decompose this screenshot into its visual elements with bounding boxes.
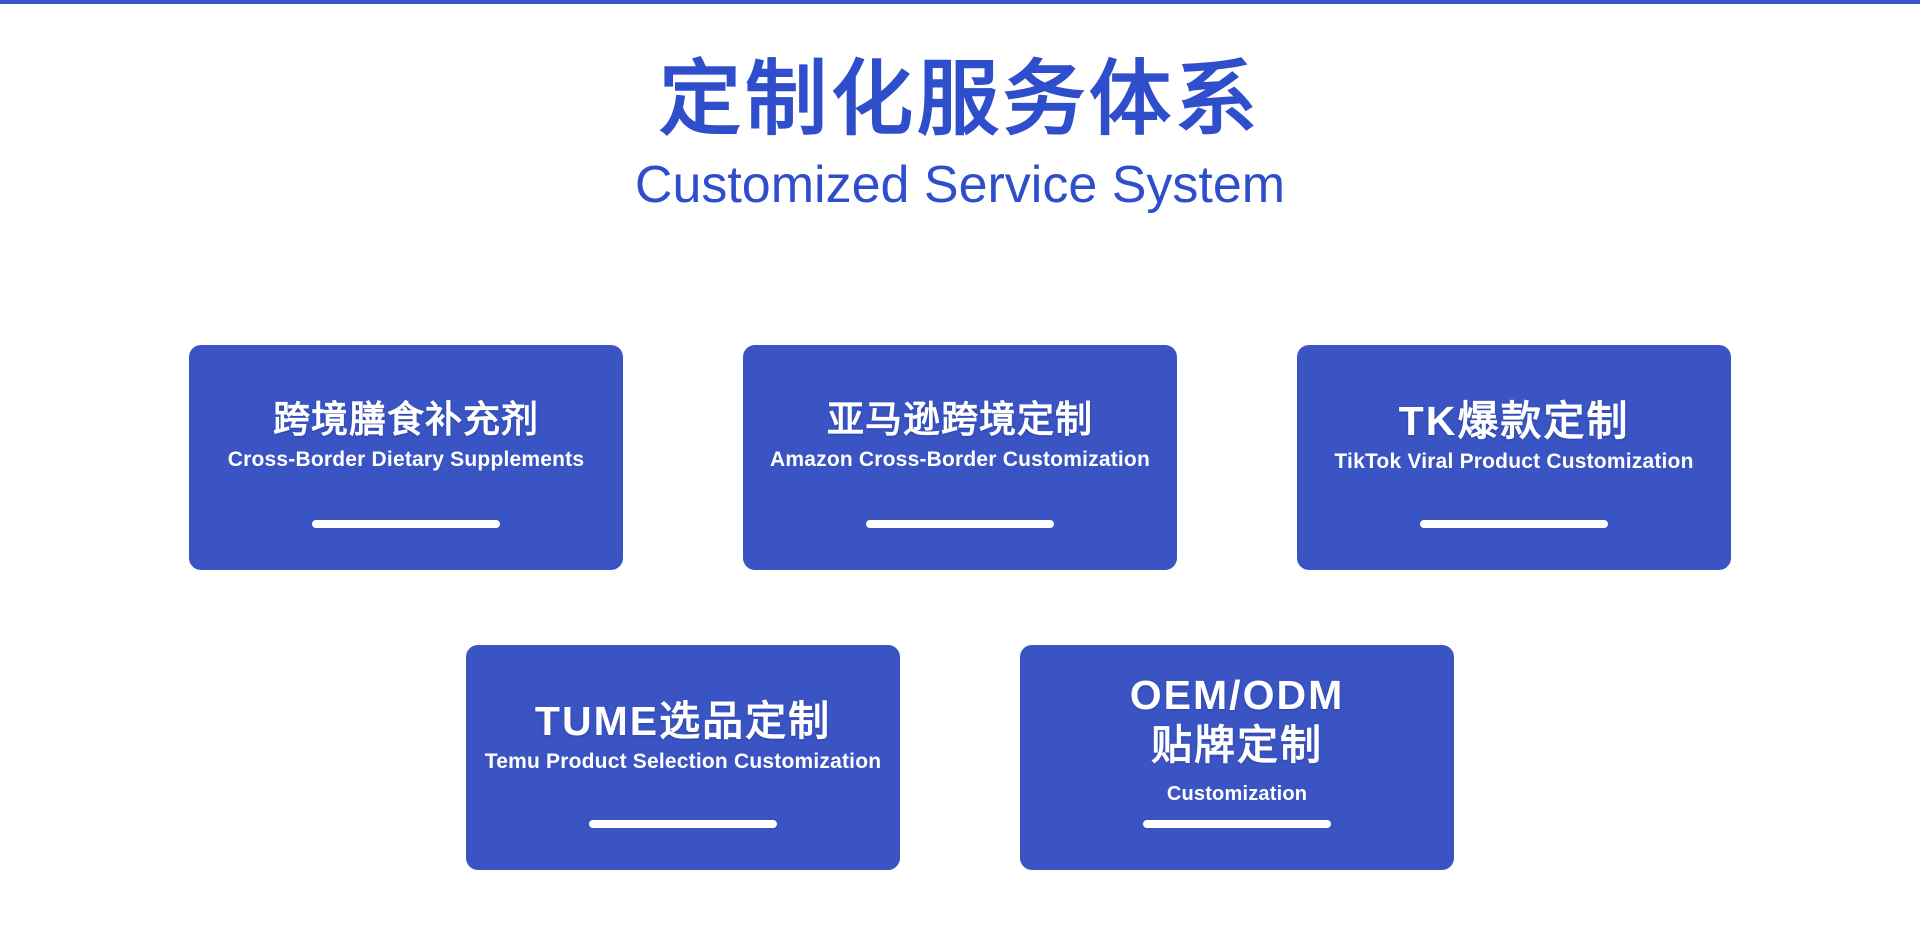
service-card-tiktok-viral[interactable]: TK爆款定制 TikTok Viral Product Customizatio… bbox=[1297, 345, 1731, 570]
card-subtitle-en: Cross-Border Dietary Supplements bbox=[228, 447, 585, 473]
card-subtitle-brand: TikTok bbox=[1334, 450, 1401, 473]
card-content: TK爆款定制 TikTok Viral Product Customizatio… bbox=[1297, 345, 1731, 475]
page-heading: 定制化服务体系 Customized Service System bbox=[0, 52, 1920, 216]
card-title-cn: 跨境膳食补充剂 bbox=[273, 397, 539, 443]
card-divider bbox=[1143, 820, 1331, 828]
service-card-row-1: 跨境膳食补充剂 Cross-Border Dietary Supplements… bbox=[0, 345, 1920, 570]
card-content: TUME选品定制 Temu Product Selection Customiz… bbox=[466, 645, 900, 775]
card-subtitle-en: Temu Product Selection Customization bbox=[485, 749, 882, 775]
card-divider bbox=[1420, 520, 1608, 528]
banner-page: 定制化服务体系 Customized Service System 跨境膳食补充… bbox=[0, 0, 1920, 939]
card-subtitle-en: TikTok Viral Product Customization bbox=[1334, 449, 1693, 475]
page-title-en: Customized Service System bbox=[0, 154, 1920, 216]
service-card-oem-odm[interactable]: OEM/ODM 贴牌定制 Customization bbox=[1020, 645, 1454, 870]
card-title-cn: 亚马逊跨境定制 bbox=[827, 397, 1093, 443]
card-title-line2: 贴牌定制 bbox=[1151, 721, 1323, 769]
card-subtitle-rest: Viral Product Customization bbox=[1407, 450, 1693, 473]
card-content: OEM/ODM 贴牌定制 Customization bbox=[1020, 645, 1454, 807]
top-accent-rule bbox=[0, 0, 1920, 4]
card-subtitle-rest: Customization bbox=[1167, 783, 1307, 805]
card-subtitle-rest: Cross-Border Dietary Supplements bbox=[228, 448, 585, 471]
service-card-cross-border-supplements[interactable]: 跨境膳食补充剂 Cross-Border Dietary Supplements bbox=[189, 345, 623, 570]
card-subtitle-brand: Temu bbox=[485, 750, 540, 773]
card-subtitle-brand: Amazon bbox=[770, 448, 853, 471]
service-card-grid: 跨境膳食补充剂 Cross-Border Dietary Supplements… bbox=[0, 345, 1920, 870]
card-divider bbox=[866, 520, 1054, 528]
card-subtitle-rest: Product Selection Customization bbox=[546, 750, 881, 773]
service-card-amazon-cross-border[interactable]: 亚马逊跨境定制 Amazon Cross-Border Customizatio… bbox=[743, 345, 1177, 570]
card-subtitle-rest: Cross-Border Customization bbox=[859, 448, 1150, 471]
card-divider bbox=[312, 520, 500, 528]
service-card-row-2: TUME选品定制 Temu Product Selection Customiz… bbox=[0, 645, 1920, 870]
service-card-temu-product-selection[interactable]: TUME选品定制 Temu Product Selection Customiz… bbox=[466, 645, 900, 870]
card-content: 亚马逊跨境定制 Amazon Cross-Border Customizatio… bbox=[743, 345, 1177, 473]
page-title-cn: 定制化服务体系 bbox=[0, 52, 1920, 148]
card-content: 跨境膳食补充剂 Cross-Border Dietary Supplements bbox=[189, 345, 623, 473]
card-subtitle-en: Amazon Cross-Border Customization bbox=[770, 447, 1150, 473]
card-title-cn: TUME选品定制 bbox=[535, 697, 831, 745]
card-title-line1: OEM/ODM bbox=[1130, 671, 1344, 719]
card-subtitle-en: Customization bbox=[1167, 781, 1307, 807]
card-title-cn: TK爆款定制 bbox=[1399, 397, 1630, 445]
card-divider bbox=[589, 820, 777, 828]
